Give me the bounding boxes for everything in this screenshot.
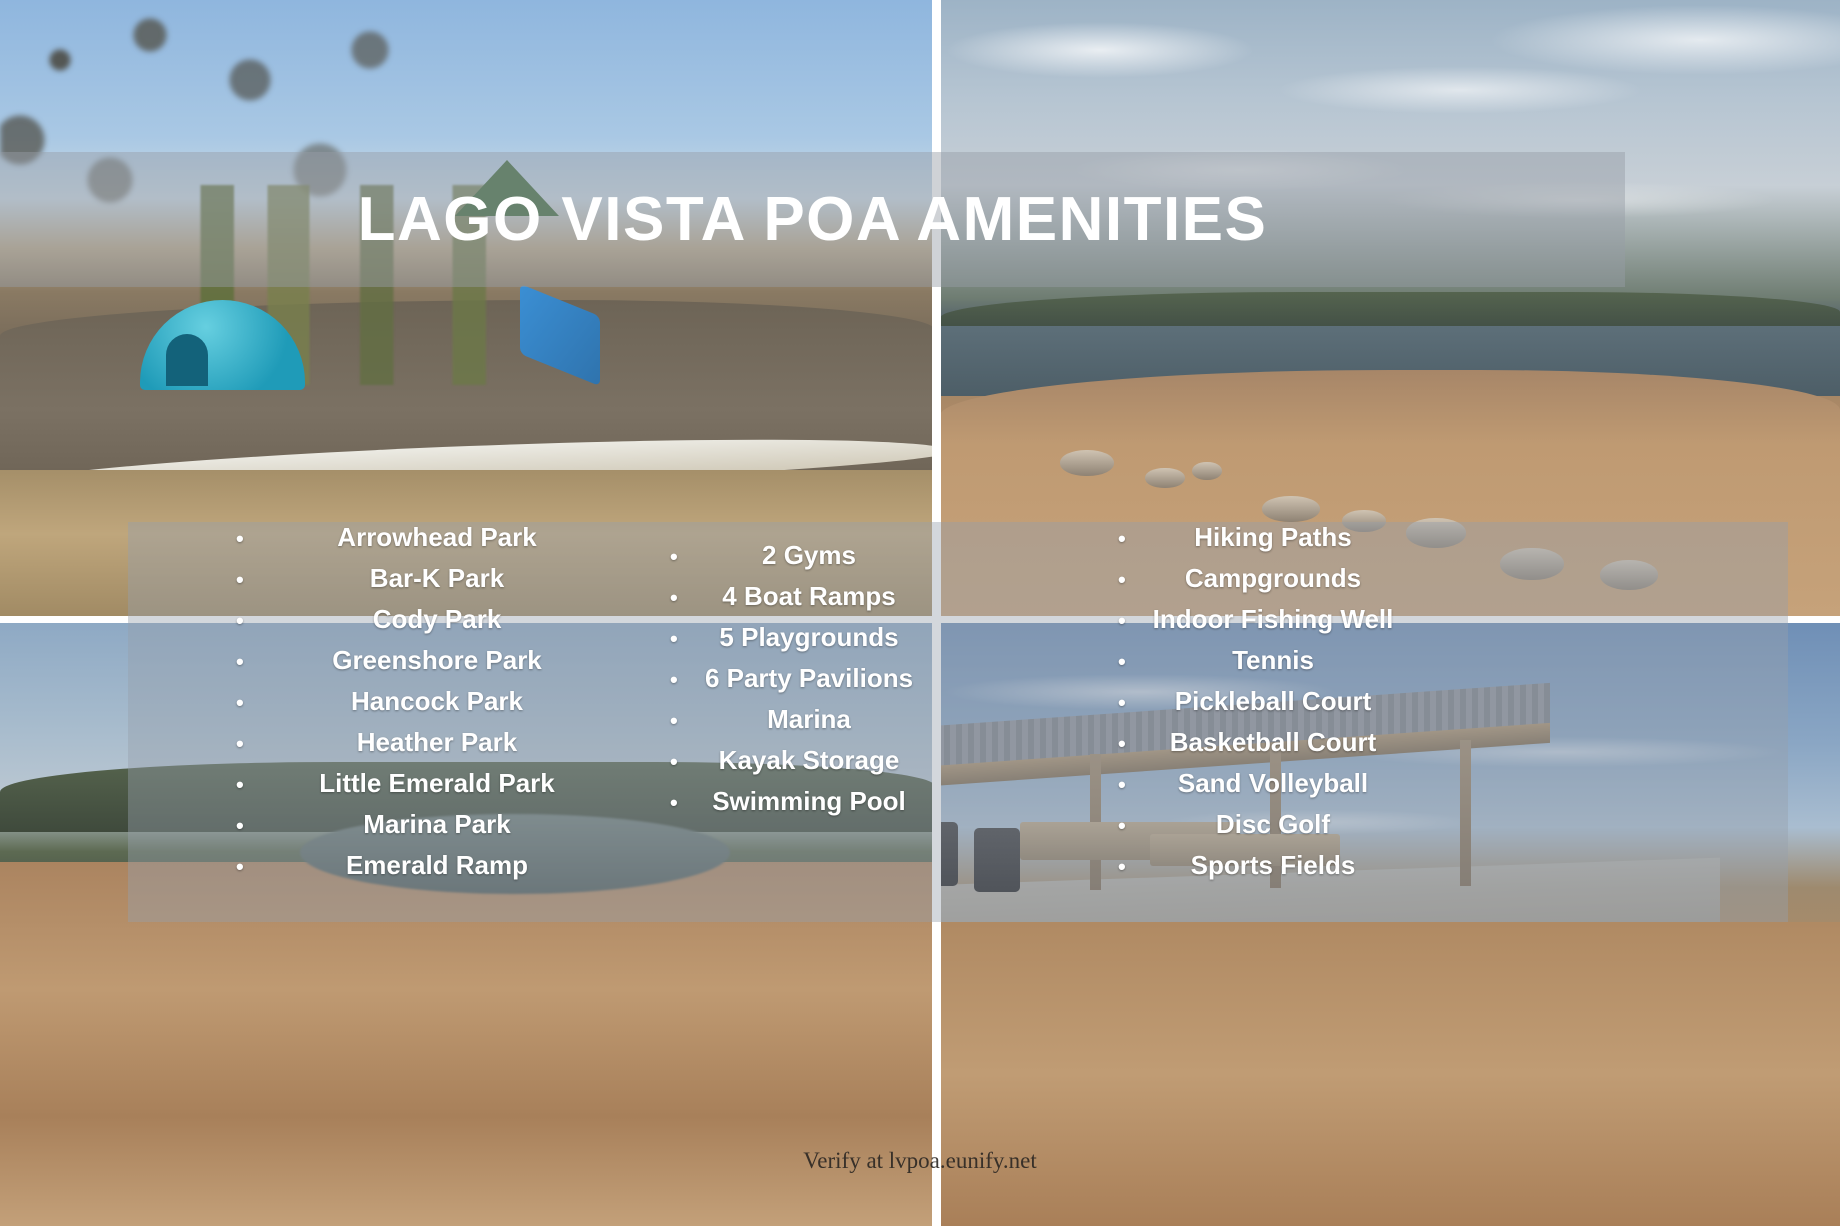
page-title: LAGO VISTA POA AMENITIES [358, 184, 1268, 255]
bullet-icon: • [670, 669, 680, 691]
shore-rock [1192, 462, 1222, 480]
list-item: •Marina [670, 704, 938, 745]
bullet-icon: • [236, 692, 246, 714]
shore-rock [1060, 450, 1114, 476]
pavilion-dirt [940, 922, 1840, 1226]
list-item-label: Emerald Ramp [246, 850, 636, 881]
list-item: •Sand Volleyball [1118, 768, 1418, 809]
list-item-label: Heather Park [246, 727, 636, 758]
list-item-label: Kayak Storage [680, 745, 938, 776]
list-item-label: 6 Party Pavilions [680, 663, 938, 694]
bullet-icon: • [1118, 856, 1128, 878]
amenities-poster: LAGO VISTA POA AMENITIES •Arrowhead Park… [0, 0, 1840, 1226]
list-item: •Sports Fields [1118, 850, 1418, 891]
list-item-label: Sports Fields [1128, 850, 1418, 881]
list-item-label: Little Emerald Park [246, 768, 636, 799]
shore-rock [1145, 468, 1185, 488]
bullet-icon: • [1118, 815, 1128, 837]
list-item-label: Bar-K Park [246, 563, 636, 594]
bullet-icon: • [1118, 733, 1128, 755]
list-item: •Pickleball Court [1118, 686, 1418, 727]
list-item: •Campgrounds [1118, 563, 1418, 604]
bullet-icon: • [236, 774, 246, 796]
list-item-label: 4 Boat Ramps [680, 581, 938, 612]
list-item: •Hancock Park [236, 686, 636, 727]
list-item: •Emerald Ramp [236, 850, 636, 891]
list-item: •Kayak Storage [670, 745, 938, 786]
list-item-label: Basketball Court [1128, 727, 1418, 758]
bullet-icon: • [236, 569, 246, 591]
list-item-label: 5 Playgrounds [680, 622, 938, 653]
list-item: •Swimming Pool [670, 786, 938, 827]
facilities-list: •2 Gyms •4 Boat Ramps •5 Playgrounds •6 … [670, 522, 938, 827]
recreation-list: •Hiking Paths •Campgrounds •Indoor Fishi… [1118, 522, 1418, 891]
bullet-icon: • [670, 751, 680, 773]
bullet-icon: • [1118, 610, 1128, 632]
bullet-icon: • [1118, 528, 1128, 550]
list-item: •Little Emerald Park [236, 768, 636, 809]
list-item-label: Disc Golf [1128, 809, 1418, 840]
list-item-label: Campgrounds [1128, 563, 1418, 594]
bullet-icon: • [1118, 569, 1128, 591]
bullet-icon: • [670, 710, 680, 732]
bullet-icon: • [236, 651, 246, 673]
list-item: •2 Gyms [670, 540, 938, 581]
list-item: •Greenshore Park [236, 645, 636, 686]
list-item: •Disc Golf [1118, 809, 1418, 850]
list-item: •6 Party Pavilions [670, 663, 938, 704]
list-item: •4 Boat Ramps [670, 581, 938, 622]
verify-text: Verify at lvpoa.eunify.net [0, 1148, 1840, 1174]
title-banner: LAGO VISTA POA AMENITIES [0, 152, 1625, 287]
bullet-icon: • [670, 628, 680, 650]
list-item-label: Sand Volleyball [1128, 768, 1418, 799]
column-recreation: •Hiking Paths •Campgrounds •Indoor Fishi… [1118, 522, 1418, 891]
list-item-label: 2 Gyms [680, 540, 938, 571]
amenities-overlay: •Arrowhead Park •Bar-K Park •Cody Park •… [128, 522, 1788, 922]
list-item-label: Marina Park [246, 809, 636, 840]
list-item: •Hiking Paths [1118, 522, 1418, 563]
parks-list: •Arrowhead Park •Bar-K Park •Cody Park •… [236, 522, 636, 891]
list-item-label: Indoor Fishing Well [1128, 604, 1418, 635]
list-item: •Cody Park [236, 604, 636, 645]
list-item-label: Swimming Pool [680, 786, 938, 817]
bullet-icon: • [236, 733, 246, 755]
column-parks: •Arrowhead Park •Bar-K Park •Cody Park •… [236, 522, 636, 891]
bullet-icon: • [670, 792, 680, 814]
list-item: •Basketball Court [1118, 727, 1418, 768]
bullet-icon: • [1118, 651, 1128, 673]
column-facilities: •2 Gyms •4 Boat Ramps •5 Playgrounds •6 … [670, 522, 938, 827]
bullet-icon: • [236, 610, 246, 632]
bullet-icon: • [670, 546, 680, 568]
bullet-icon: • [236, 856, 246, 878]
bullet-icon: • [670, 587, 680, 609]
list-item-label: Greenshore Park [246, 645, 636, 676]
bullet-icon: • [1118, 692, 1128, 714]
bullet-icon: • [236, 528, 246, 550]
list-item: •Bar-K Park [236, 563, 636, 604]
list-item-label: Hancock Park [246, 686, 636, 717]
list-item: •Heather Park [236, 727, 636, 768]
list-item: •Arrowhead Park [236, 522, 636, 563]
list-item-label: Hiking Paths [1128, 522, 1418, 553]
list-item-label: Marina [680, 704, 938, 735]
list-item: •5 Playgrounds [670, 622, 938, 663]
list-item-label: Arrowhead Park [246, 522, 636, 553]
list-item-label: Pickleball Court [1128, 686, 1418, 717]
list-item-label: Tennis [1128, 645, 1418, 676]
bullet-icon: • [236, 815, 246, 837]
list-item: •Indoor Fishing Well [1118, 604, 1418, 645]
list-item: •Tennis [1118, 645, 1418, 686]
list-item: •Marina Park [236, 809, 636, 850]
list-item-label: Cody Park [246, 604, 636, 635]
bullet-icon: • [1118, 774, 1128, 796]
shore-rock [1262, 496, 1320, 522]
